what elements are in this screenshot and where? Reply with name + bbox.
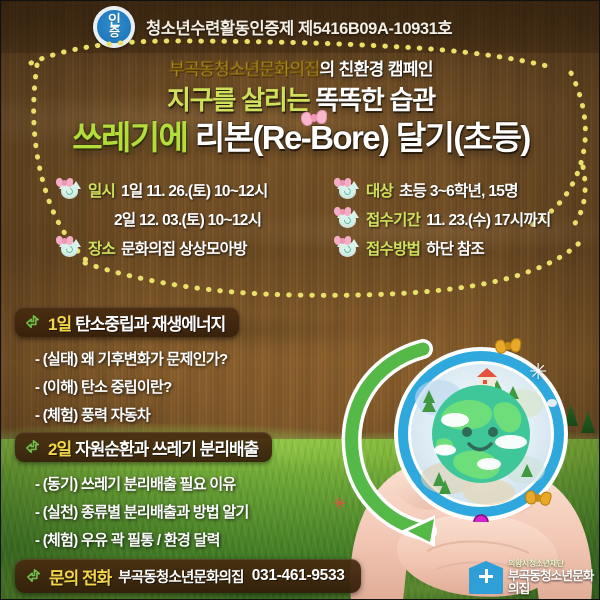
main-title-white: 리본(Re-Bore) 달기(초등): [195, 119, 530, 156]
info-column-right: 대상 초등 3~6학년, 15명 접수기간 11. 23.(수) 17시까지: [337, 177, 551, 264]
campaign-rest: 의 친환경 캠페인: [319, 60, 433, 79]
organization-name: 부곡동청소년문화의집: [508, 570, 599, 595]
info-row-period: 접수기간 11. 23.(수) 17시까지: [337, 206, 551, 232]
info-column-left: 일시 1일 11. 26.(토) 10~12시 2일 12. 03.(토) 10…: [59, 177, 268, 264]
program-badge-day1: 1일 탄소중립과 재생에너지: [15, 307, 239, 337]
house-people-logo-icon: [469, 561, 503, 594]
campaign-line: 부곡동청소년문화의집의 친환경 캠페인: [1, 59, 600, 81]
program-day-2: 2일: [48, 435, 71, 460]
program-item: - (실태) 왜 기후변화가 문제인가?: [35, 346, 227, 374]
subtitle-green: 지구를 살리는: [167, 85, 309, 115]
red-star-icon: ✳: [333, 494, 346, 514]
program-items-day2: - (동기) 쓰레기 분리배출 필요 이유 - (실천) 종류별 분리배출과 방…: [35, 471, 249, 555]
info-value-place: 문화의집 상상모아방: [121, 237, 247, 259]
info-label-target: 대상: [366, 179, 393, 201]
youth-activity-certification-logo: 인 증: [93, 6, 135, 48]
info-value-date-2: 2일 12. 03.(토) 10~12시: [114, 208, 261, 230]
program-item: - (체험) 우유 곽 필통 / 환경 달력: [35, 527, 249, 555]
info-value-method: 하단 참조: [426, 237, 484, 259]
gold-bow-top-icon: [494, 338, 521, 355]
recycle-icon: [24, 438, 43, 457]
info-value-date-1: 1일 11. 26.(토) 10~12시: [121, 179, 267, 201]
organization-logo: 의왕시청소년재단 부곡동청소년문화의집: [469, 560, 599, 595]
cat-ribbon-icon: [59, 239, 81, 258]
info-label-period: 접수기간: [366, 208, 420, 230]
program-items-day1: - (실태) 왜 기후변화가 문제인가? - (이해) 탄소 중립이란? - (…: [35, 346, 227, 430]
contact-org: 부곡동청소년문화의집: [118, 566, 243, 587]
subtitle-white: 똑똑한 습관: [309, 85, 435, 115]
program-day-1: 1일: [48, 310, 71, 335]
program-title-2: 자원순환과 쓰레기 분리배출: [75, 435, 258, 460]
info-value-target: 초등 3~6학년, 15명: [399, 179, 518, 201]
main-title-green: 쓰레기에: [72, 119, 187, 156]
gold-bow-bottom-icon: [525, 490, 552, 506]
poster-root: ✳ ✳ 인 증 청소년수련활동인증제 제5416B09A-10931호: [0, 0, 600, 600]
info-label-method: 접수방법: [366, 237, 420, 259]
subtitle-line: 지구를 살리는 똑똑한 습관: [1, 84, 600, 116]
recycle-icon: [24, 313, 43, 332]
organization-logo-text: 의왕시청소년재단 부곡동청소년문화의집: [508, 560, 599, 595]
header-bar: 인 증 청소년수련활동인증제 제5416B09A-10931호: [1, 1, 600, 53]
main-title-line: 쓰레기에 리본(Re-Bore) 달기(초등): [1, 117, 600, 159]
campaign-org: 부곡동청소년문화의집: [169, 60, 319, 79]
info-row-target: 대상 초등 3~6학년, 15명: [337, 177, 551, 203]
info-row-date-2: 2일 12. 03.(토) 10~12시: [59, 206, 268, 232]
certification-text: 청소년수련활동인증제 제5416B09A-10931호: [146, 15, 452, 39]
program-title-1: 탄소중립과 재생에너지: [75, 310, 225, 335]
sparkle-icon: ✳: [529, 359, 547, 385]
program-item: - (동기) 쓰레기 분리배출 필요 이유: [35, 471, 249, 499]
program-badge-day2: 2일 자원순환과 쓰레기 분리배출: [15, 432, 272, 462]
logo-text-bottom: 증: [93, 27, 135, 38]
contact-label: 문의 전화: [49, 564, 111, 589]
info-value-period: 11. 23.(수) 17시까지: [426, 208, 550, 230]
info-label-date: 일시: [88, 179, 115, 201]
contact-phone[interactable]: 031-461-9533: [252, 567, 345, 585]
cat-ribbon-icon: [337, 181, 359, 200]
program-item: - (실천) 종류별 분리배출과 방법 알기: [35, 499, 249, 527]
contact-bar[interactable]: 문의 전화 부곡동청소년문화의집 031-461-9533: [15, 559, 361, 593]
white-pebble-icon: [547, 399, 557, 407]
program-item: - (이해) 탄소 중립이란?: [35, 374, 227, 402]
cat-ribbon-icon: [59, 181, 81, 200]
program-item: - (체험) 풍력 자동차: [35, 402, 227, 430]
info-row-date: 일시 1일 11. 26.(토) 10~12시: [59, 177, 268, 203]
title-block: 부곡동청소년문화의집의 친환경 캠페인 지구를 살리는 똑똑한 습관 쓰레기에 …: [1, 59, 600, 159]
cat-ribbon-icon: [337, 210, 359, 229]
organization-subtitle: 의왕시청소년재단: [508, 560, 599, 568]
cat-ribbon-icon: [337, 239, 359, 258]
info-row-method: 접수방법 하단 참조: [337, 235, 551, 261]
info-label-place: 장소: [88, 237, 115, 259]
info-block: 일시 1일 11. 26.(토) 10~12시 2일 12. 03.(토) 10…: [1, 177, 600, 271]
recycle-icon: [25, 567, 44, 586]
info-row-place: 장소 문화의집 상상모아방: [59, 235, 268, 261]
